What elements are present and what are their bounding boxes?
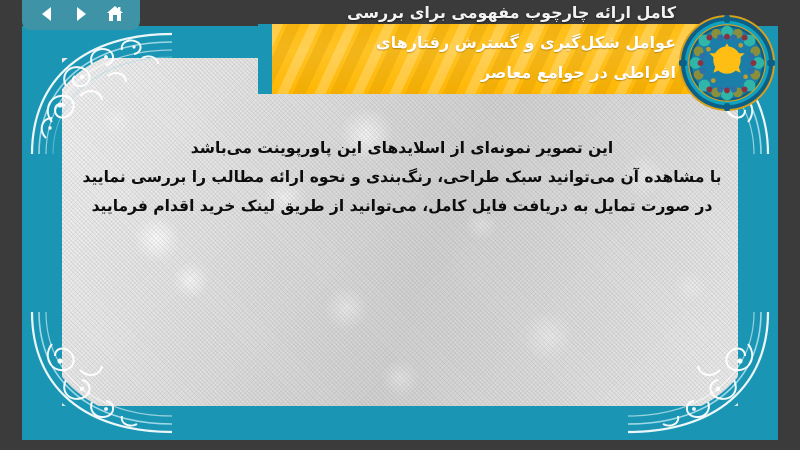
slide-navigation-bar[interactable] (22, 0, 140, 30)
slide-body-text: این تصویر نمونه‌ای از اسلایدهای این پاور… (66, 134, 738, 221)
title-line-1: کامل ارائه چارچوب مفهومی برای بررسی (258, 0, 676, 28)
body-line-1: این تصویر نمونه‌ای از اسلایدهای این پاور… (66, 134, 738, 163)
persian-medallion-ornament (678, 14, 776, 112)
title-line-2: عوامل شکل‌گیری و گسترش رفتارهای (258, 28, 676, 58)
next-slide-button[interactable] (68, 2, 94, 26)
triangle-right-icon (72, 5, 90, 23)
title-line-3: افراطی در جوامع معاصر (258, 58, 676, 88)
background-texture (62, 58, 738, 406)
slide-content-area (62, 58, 738, 406)
home-icon (105, 4, 125, 24)
triangle-left-icon (38, 5, 56, 23)
body-line-2: با مشاهده آن می‌توانید سبک طراحی، رنگ‌بن… (66, 163, 738, 192)
slide-stage: این تصویر نمونه‌ای از اسلایدهای این پاور… (0, 0, 800, 450)
slide-title: کامل ارائه چارچوب مفهومی برای بررسی عوام… (258, 0, 688, 98)
body-line-3: در صورت تمایل به دریافت فایل کامل، می‌تو… (66, 192, 738, 221)
home-button[interactable] (102, 2, 128, 26)
previous-slide-button[interactable] (34, 2, 60, 26)
